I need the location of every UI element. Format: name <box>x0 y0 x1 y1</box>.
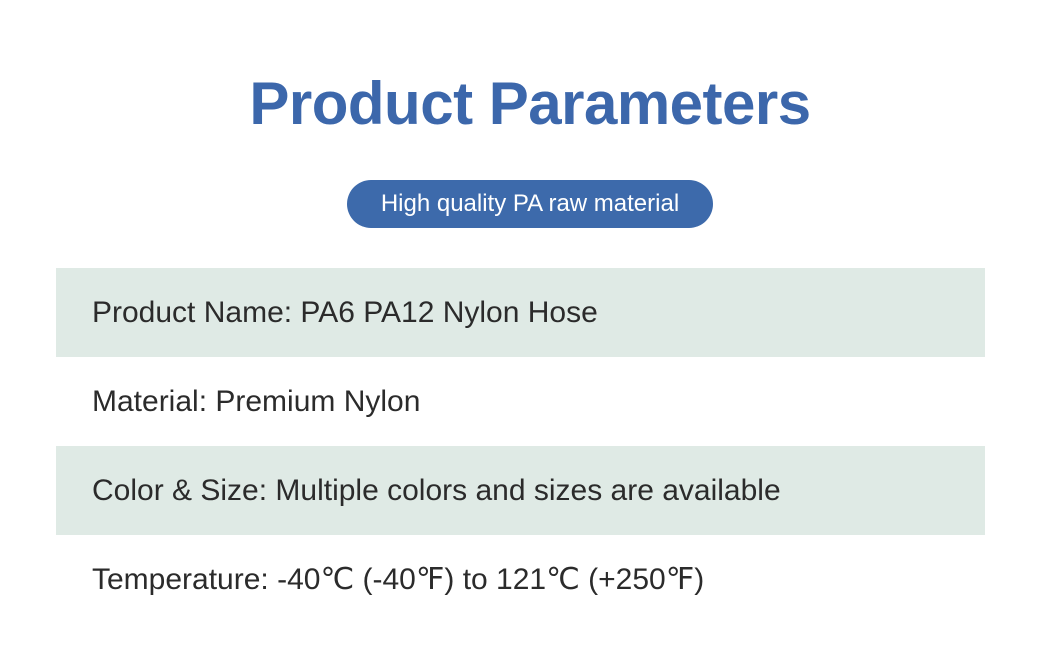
spec-row-text: Product Name: PA6 PA12 Nylon Hose <box>92 295 598 331</box>
page-title: Product Parameters <box>0 72 1060 135</box>
spec-row-text: Color & Size: Multiple colors and sizes … <box>92 473 781 509</box>
spec-table: Product Name: PA6 PA12 Nylon Hose Materi… <box>56 268 985 624</box>
badge-container: High quality PA raw material <box>0 180 1060 228</box>
table-row: Color & Size: Multiple colors and sizes … <box>56 446 985 535</box>
table-row: Product Name: PA6 PA12 Nylon Hose <box>56 268 985 357</box>
table-row: Temperature: -40℃ (-40℉) to 121℃ (+250℉) <box>56 535 985 624</box>
table-row: Material: Premium Nylon <box>56 357 985 446</box>
product-parameters-page: Product Parameters High quality PA raw m… <box>0 0 1060 658</box>
quality-badge: High quality PA raw material <box>347 180 713 228</box>
spec-row-text: Material: Premium Nylon <box>92 384 420 420</box>
spec-row-text: Temperature: -40℃ (-40℉) to 121℃ (+250℉) <box>92 562 704 598</box>
